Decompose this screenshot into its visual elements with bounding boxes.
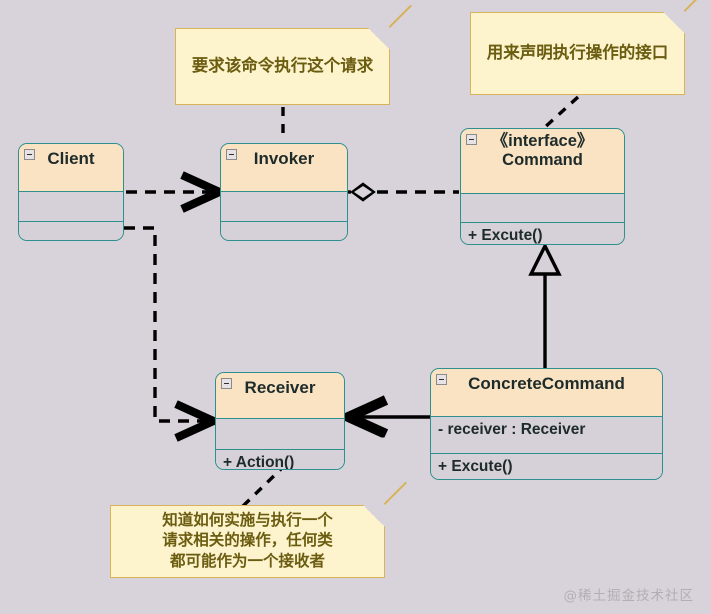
class-invoker-attributes (221, 192, 347, 222)
note-fold-corner-icon (363, 505, 385, 527)
note-command-text: 用来声明执行操作的接口 (487, 42, 669, 64)
watermark: @稀土掘金技术社区 (564, 584, 695, 604)
class-command-stereotype: 《interface》 (465, 132, 620, 151)
class-command[interactable]: 《interface》 Command + Excute() (460, 128, 625, 245)
diagram-canvas: Invoker (dependency, dashed, open arrow)… (0, 0, 711, 614)
link-client-to-receiver (124, 228, 210, 421)
class-invoker[interactable]: Invoker (220, 143, 348, 241)
class-client[interactable]: Client (18, 143, 124, 241)
class-concretecommand-header: ConcreteCommand (431, 369, 662, 417)
class-client-attributes (19, 192, 123, 222)
note-fold-corner-icon (368, 28, 390, 50)
link-invoker-to-command (348, 183, 459, 201)
class-invoker-operations (221, 222, 347, 241)
collapse-minus-icon[interactable] (221, 378, 232, 389)
class-concretecommand-attribute-0: - receiver : Receiver (438, 421, 585, 438)
collapse-minus-icon[interactable] (466, 134, 477, 145)
class-command-header: 《interface》 Command (461, 129, 624, 194)
link-note-receiver-anchor (243, 469, 281, 506)
class-invoker-header: Invoker (221, 144, 347, 192)
note-receiver: 知道如何实施与执行一个 请求相关的操作，任何类 都可能作为一个接收者 (110, 505, 385, 578)
class-receiver-attributes (216, 419, 344, 450)
class-command-operations: + Excute() (461, 223, 624, 245)
note-fold-corner-icon (663, 12, 685, 34)
class-concretecommand-operation-0: + Excute() (438, 458, 513, 475)
note-invoker: 要求该命令执行这个请求 (175, 28, 390, 105)
class-client-operations (19, 222, 123, 241)
class-receiver-operations: + Action() (216, 450, 344, 470)
link-concretecommand-to-command (531, 246, 559, 368)
class-receiver-name: Receiver (245, 378, 316, 397)
class-receiver-operation-0: + Action() (223, 454, 294, 470)
class-concretecommand[interactable]: ConcreteCommand - receiver : Receiver + … (430, 368, 663, 480)
class-receiver-header: Receiver (216, 373, 344, 419)
class-command-name: Command (465, 151, 620, 170)
class-client-name: Client (47, 149, 94, 168)
collapse-minus-icon[interactable] (24, 149, 35, 160)
class-concretecommand-name: ConcreteCommand (468, 374, 625, 393)
class-concretecommand-operations: + Excute() (431, 454, 662, 480)
class-concretecommand-attributes: - receiver : Receiver (431, 417, 662, 454)
link-note-command-anchor (544, 97, 578, 128)
class-command-operation-0: + Excute() (468, 227, 543, 244)
note-receiver-text: 知道如何实施与执行一个 请求相关的操作，任何类 都可能作为一个接收者 (162, 511, 333, 571)
note-command: 用来声明执行操作的接口 (470, 12, 685, 95)
class-client-header: Client (19, 144, 123, 192)
class-receiver[interactable]: Receiver + Action() (215, 372, 345, 470)
class-command-attributes (461, 194, 624, 223)
note-invoker-text: 要求该命令执行这个请求 (192, 55, 374, 77)
class-invoker-name: Invoker (254, 149, 314, 168)
collapse-minus-icon[interactable] (436, 374, 447, 385)
collapse-minus-icon[interactable] (226, 149, 237, 160)
